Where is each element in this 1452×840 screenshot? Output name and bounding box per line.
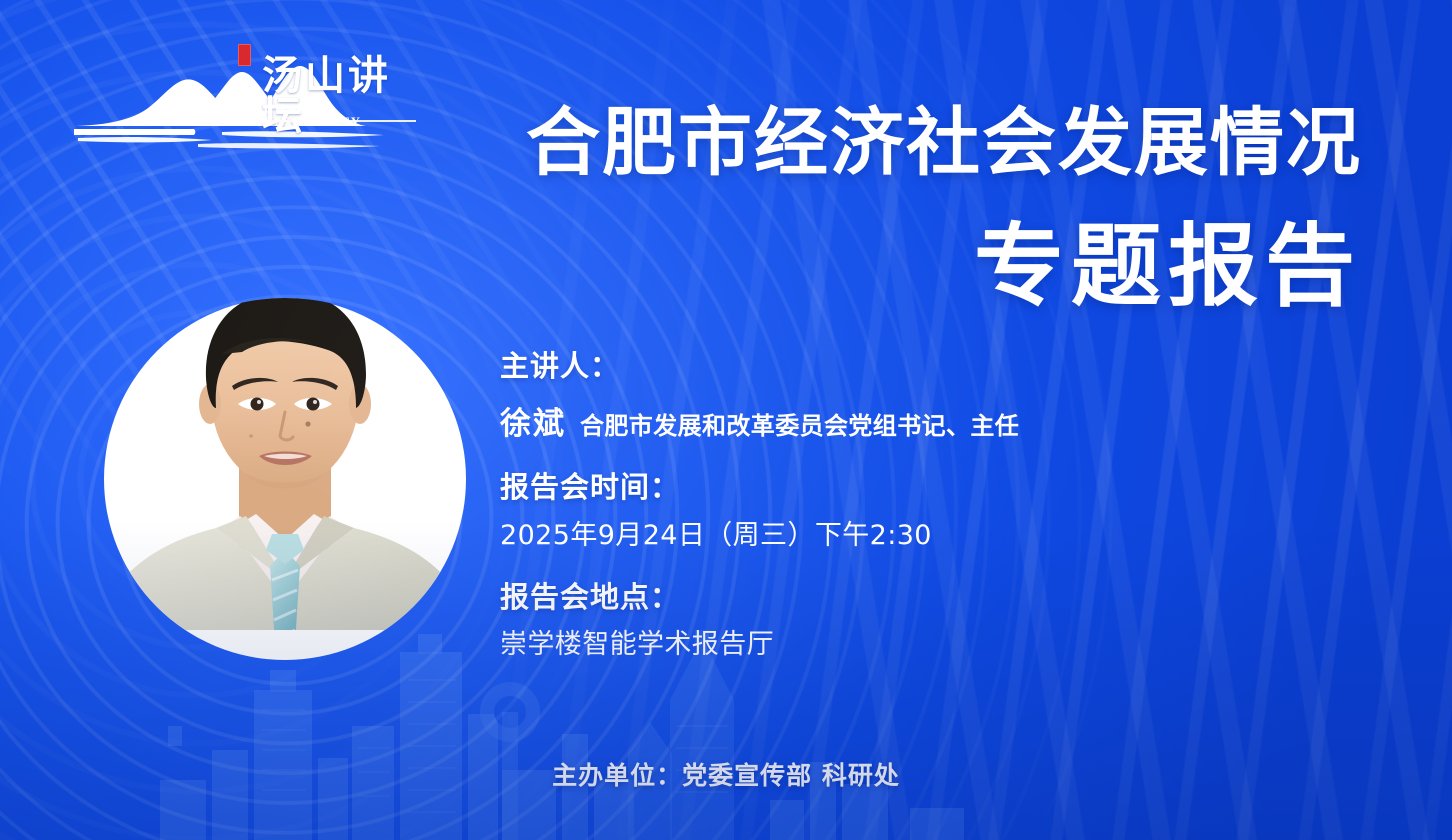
poster-title: 合肥市经济社会发展情况 专题报告 xyxy=(526,106,1362,312)
event-poster: 汤山讲坛 CHAOHU UNIVERSITY 合肥市经济社会发展情况 专题报告 xyxy=(0,0,1452,840)
event-details: 主讲人： 徐斌 合肥市发展和改革委员会党组书记、主任 报告会时间： 2025年9… xyxy=(500,348,1220,662)
organizer-footer: 主办单位：党委宣传部 科研处 xyxy=(0,756,1452,792)
speaker-row: 徐斌 合肥市发展和改革委员会党组书记、主任 xyxy=(500,398,1220,443)
speaker-portrait xyxy=(104,228,466,630)
time-label: 报告会时间： xyxy=(500,469,1220,505)
venue-label: 报告会地点： xyxy=(500,579,1220,615)
speaker-name: 徐斌 xyxy=(500,398,566,443)
portrait-illustration xyxy=(104,228,466,630)
venue-value: 崇学楼智能学术报告厅 xyxy=(500,627,1220,662)
logo-name-en: CHAOHU UNIVERSITY xyxy=(264,102,417,128)
time-value: 2025年9月24日（周三）下午2:30 xyxy=(500,518,1220,553)
title-line-1: 合肥市经济社会发展情况 xyxy=(526,106,1362,180)
title-line-2: 专题报告 xyxy=(526,222,1362,312)
chaohu-university-logo: 汤山讲坛 CHAOHU UNIVERSITY xyxy=(72,52,417,152)
speaker-title: 合肥市发展和改革委员会党组书记、主任 xyxy=(580,406,1019,441)
red-seal-icon xyxy=(238,44,251,66)
speaker-label: 主讲人： xyxy=(500,348,1220,384)
